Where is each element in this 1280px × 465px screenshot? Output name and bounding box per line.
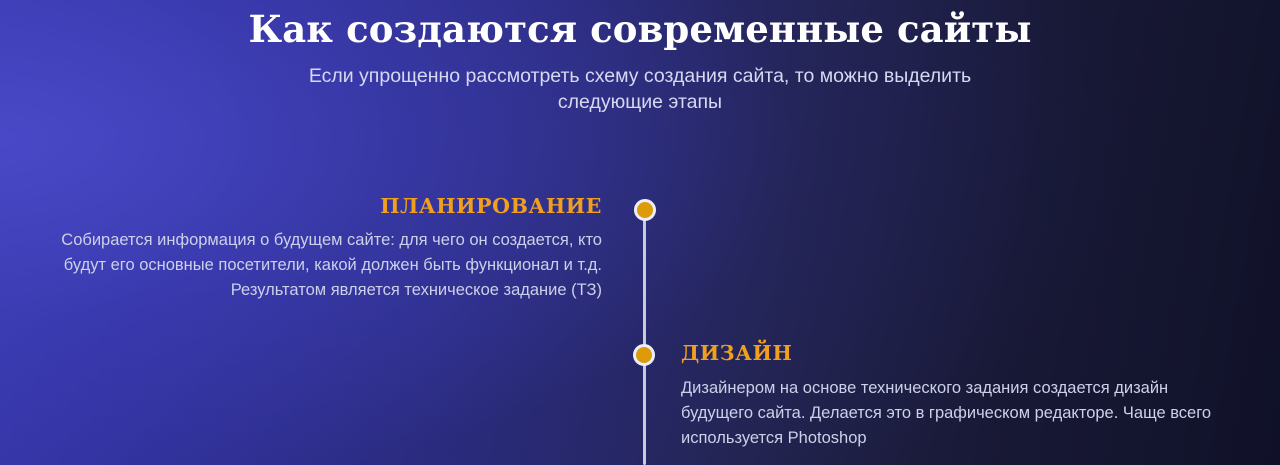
timeline-item-heading: ДИЗАЙН: [681, 340, 1241, 366]
timeline-dot-planirovanie: [634, 199, 656, 221]
timeline-item-body: Дизайнером на основе технического задани…: [681, 376, 1241, 451]
timeline: ПЛАНИРОВАНИЕ Собирается информация о буд…: [0, 0, 1280, 465]
timeline-item-heading: ПЛАНИРОВАНИЕ: [20, 193, 602, 219]
timeline-item-body: Собирается информация о будущем сайте: д…: [20, 228, 602, 303]
timeline-item-dizayn: ДИЗАЙН Дизайнером на основе технического…: [681, 340, 1241, 451]
timeline-item-planirovanie: ПЛАНИРОВАНИЕ Собирается информация о буд…: [20, 193, 602, 303]
timeline-dot-dizayn: [633, 344, 655, 366]
slide-root: Как создаются современные сайты Если упр…: [0, 0, 1280, 465]
timeline-axis-line: [643, 208, 646, 465]
